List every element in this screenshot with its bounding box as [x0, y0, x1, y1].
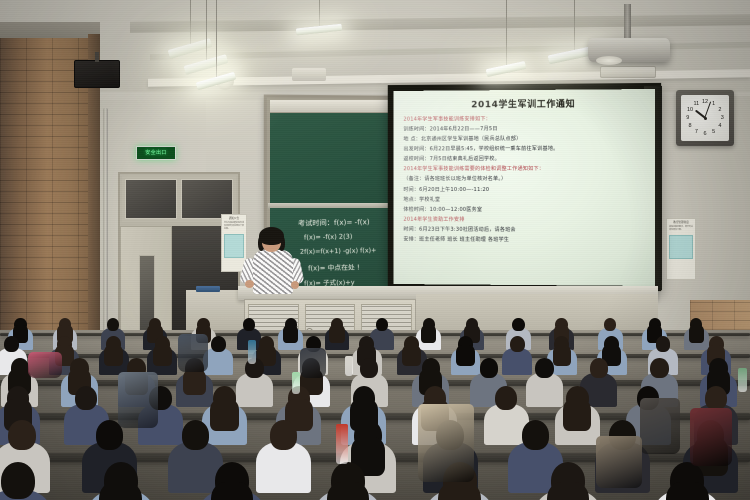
clock-numeral: 1 — [712, 101, 715, 107]
student-head — [182, 420, 210, 450]
wall-notice-right: 教室管理制度 请保持教室整洁，离开时关闭电源及门窗。 — [666, 218, 696, 280]
exit-sign: 安全出口 — [136, 146, 176, 160]
transom-pane — [181, 179, 233, 219]
notice-panel — [224, 234, 244, 258]
clock-numeral: 9 — [686, 115, 689, 121]
light-suspension-wire — [319, 0, 320, 26]
student-head — [510, 336, 525, 352]
student-head — [656, 336, 671, 352]
clock-numeral: 11 — [694, 101, 700, 107]
notice-heading: 通知公告 — [224, 217, 244, 221]
student-head — [107, 318, 119, 331]
backpack — [418, 404, 474, 482]
instructor-left-hand — [245, 280, 254, 288]
door-transom-windows — [122, 176, 236, 222]
student-long-hair — [666, 482, 709, 500]
student-head — [4, 336, 19, 352]
notice-body: 学生军事技能训练安排及体检时间说明见下表内容。 — [224, 222, 244, 232]
classroom-photo: 安全出口 通知公告 学生军事技能训练安排及体检时间说明见下表内容。 教室管理制度… — [0, 0, 750, 500]
student-head — [211, 336, 226, 352]
instructor-hair — [259, 227, 284, 245]
clock-numeral: 12 — [702, 99, 708, 105]
student-head — [270, 420, 298, 450]
wall-speaker-icon — [74, 60, 120, 88]
student-head — [8, 420, 36, 450]
backpack — [690, 408, 732, 466]
student — [314, 462, 382, 500]
slide-line: （备注：请各班班长以班为单位核对名单。） — [403, 174, 644, 184]
backpack — [178, 334, 208, 372]
instructor-torso — [253, 250, 293, 294]
student-head — [512, 318, 524, 331]
student-head — [360, 358, 378, 378]
student-long-hair — [211, 482, 254, 500]
student-long-hair — [283, 325, 298, 342]
clock-numeral: 5 — [712, 129, 715, 135]
bottle — [292, 372, 300, 394]
student — [0, 462, 52, 500]
student-long-hair — [547, 482, 590, 500]
student-head — [590, 358, 608, 378]
projector-lens-icon — [596, 56, 622, 65]
slide-line: 体检时间：10:00—12:00医务室 — [403, 205, 644, 215]
slide-line: 返校时间：7月5日结束典礼后返回学校。 — [403, 154, 644, 165]
student — [653, 462, 721, 500]
slide-body: 2014年学生军事技能训练安排如下：训练时间：2014年6月22日——7月5日地… — [403, 113, 644, 245]
light-suspension-wire — [206, 0, 207, 60]
bottle — [738, 368, 747, 392]
student — [198, 462, 266, 500]
clock-numeral: 4 — [718, 123, 721, 129]
slide-line: 2014年学生军事技能训练需要的体检和调整工作通知如下： — [403, 164, 644, 174]
exit-sign-label: 安全出口 — [145, 151, 167, 156]
student-long-hair — [563, 399, 591, 431]
projector-mount-pole — [624, 4, 631, 40]
student-long-hair — [329, 325, 344, 342]
student-head — [650, 358, 668, 378]
backpack — [300, 348, 326, 378]
projection-screen: 2014学生军训工作通知 2014年学生军事技能训练安排如下：训练时间：2014… — [394, 89, 655, 286]
student — [534, 462, 602, 500]
student — [87, 462, 155, 500]
bottle — [248, 340, 256, 364]
backpack — [28, 352, 62, 378]
student-head — [495, 386, 517, 410]
notice-panel — [669, 235, 693, 259]
slide-title: 2014学生军训工作通知 — [403, 96, 644, 111]
air-conditioner-unit — [600, 66, 656, 78]
slide-line: 时间：6月20日上午10:00—-11:20 — [403, 185, 644, 195]
student-head — [1, 462, 35, 499]
student-long-hair — [438, 482, 481, 500]
student-head — [522, 420, 550, 450]
student-head — [243, 318, 255, 331]
book-on-table — [196, 286, 220, 292]
light-suspension-wire — [190, 0, 191, 44]
light-suspension-wire — [506, 0, 507, 65]
clock-numeral: 2 — [718, 107, 721, 113]
slide-line: 出发时间：6月22日早晨5:45，学校组织统一乘车前往军训基地。 — [403, 144, 644, 155]
slide-line: 地点：学校礼堂 — [403, 195, 644, 205]
light-suspension-wire — [216, 0, 217, 77]
backpack — [640, 398, 680, 454]
notice-heading: 教室管理制度 — [669, 221, 693, 225]
student-head — [535, 358, 553, 378]
student-head — [480, 358, 498, 378]
transom-pane — [125, 179, 177, 219]
clock-numeral: 8 — [689, 123, 692, 129]
wall-vent — [292, 68, 326, 81]
student — [325, 318, 350, 354]
student-head — [705, 386, 727, 410]
clock-numeral: 3 — [721, 115, 724, 121]
student-long-hair — [153, 345, 172, 366]
clock-numeral: 7 — [695, 129, 698, 135]
notice-body: 请保持教室整洁，离开时关闭电源及门窗。 — [669, 226, 693, 232]
backpack — [596, 436, 642, 488]
clock-face: 121234567891011 — [681, 95, 729, 141]
slide-line: 2014年学生资助工作安排 — [403, 215, 644, 226]
student-long-hair — [99, 482, 142, 500]
light-suspension-wire — [574, 0, 575, 50]
slide-line: 安排：班主任老师 班长 班主任助理 各班学生 — [403, 234, 644, 245]
bottle — [345, 356, 353, 376]
student-head — [75, 386, 97, 410]
backpack — [118, 372, 158, 428]
instructor-right-hand — [291, 281, 299, 289]
wall-clock: 121234567891011 — [676, 90, 734, 146]
student-long-hair — [327, 482, 370, 500]
clock-numeral: 6 — [703, 131, 706, 137]
student-head — [376, 318, 388, 331]
clock-numeral: 10 — [687, 107, 693, 113]
bottle — [336, 424, 348, 464]
